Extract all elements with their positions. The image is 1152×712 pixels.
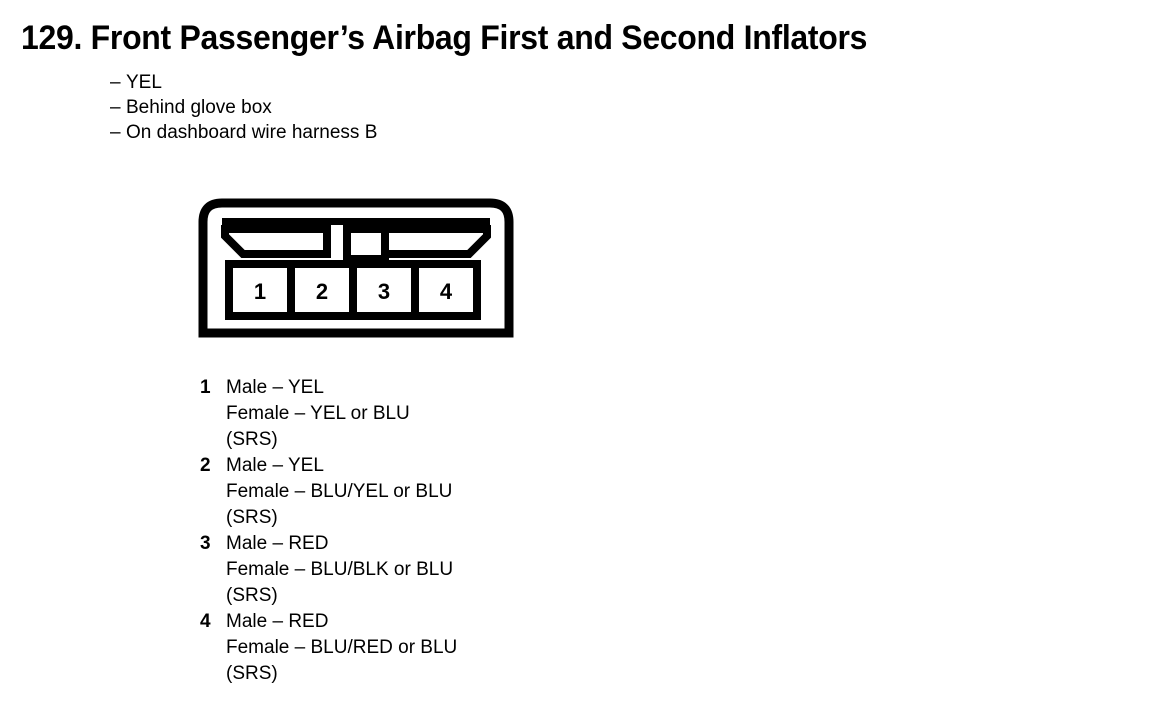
male-label: Male (226, 377, 267, 398)
list-item: – Behind glove box (110, 95, 710, 120)
pin-female-line: Female – BLU/YEL or BLU (226, 479, 660, 505)
left-trapezoid-cutout (225, 229, 327, 254)
separator-dash: – (272, 377, 283, 398)
pin-male-line: Male – YEL (226, 453, 660, 479)
pin-number: 4 (200, 609, 226, 635)
center-square-cutout (347, 229, 385, 259)
pin-entry-1: 1 Male – YEL Female – YEL or BLU (SRS) (200, 375, 660, 453)
pin-entry-4: 4 Male – RED Female – BLU/RED or BLU (SR… (200, 609, 660, 687)
pin-detail-lines: Male – RED Female – BLU/RED or BLU (SRS) (226, 609, 660, 687)
female-label: Female (226, 481, 289, 502)
separator-dash: – (272, 611, 283, 632)
female-label: Female (226, 403, 289, 424)
male-label: Male (226, 455, 267, 476)
pin-number: 1 (200, 375, 226, 401)
male-wire-color: YEL (288, 377, 324, 398)
pin-entry-3: 3 Male – RED Female – BLU/BLK or BLU (SR… (200, 531, 660, 609)
male-label: Male (226, 533, 267, 554)
male-wire-color: YEL (288, 455, 324, 476)
dash-bullet-icon: – (110, 70, 126, 95)
pin-system-label: (SRS) (226, 427, 660, 453)
pin-cavity-label-4: 4 (440, 279, 453, 304)
dash-bullet-icon: – (110, 120, 126, 145)
pin-detail-lines: Male – YEL Female – BLU/YEL or BLU (SRS) (226, 453, 660, 531)
separator-dash: – (272, 533, 283, 554)
pin-male-line: Male – RED (226, 609, 660, 635)
pin-female-line: Female – BLU/BLK or BLU (226, 557, 660, 583)
pin-female-line: Female – BLU/RED or BLU (226, 635, 660, 661)
location-text: Behind glove box (126, 95, 272, 120)
pin-cavity-label-2: 2 (316, 279, 328, 304)
list-item: – YEL (110, 70, 710, 95)
right-trapezoid-cutout (385, 229, 487, 254)
separator-dash: – (295, 481, 306, 502)
separator-dash: – (272, 455, 283, 476)
male-wire-color: RED (288, 533, 328, 554)
harness-text: On dashboard wire harness B (126, 120, 377, 145)
female-wire-color: BLU/BLK or BLU (311, 559, 454, 580)
female-label: Female (226, 559, 289, 580)
top-band-rule (222, 218, 490, 225)
female-wire-color: YEL or BLU (310, 403, 410, 424)
separator-dash: – (295, 637, 306, 658)
list-item: – On dashboard wire harness B (110, 120, 710, 145)
pin-system-label: (SRS) (226, 583, 660, 609)
pin-entry-2: 2 Male – YEL Female – BLU/YEL or BLU (SR… (200, 453, 660, 531)
separator-dash: – (295, 403, 306, 424)
pin-detail-lines: Male – RED Female – BLU/BLK or BLU (SRS) (226, 531, 660, 609)
female-wire-color: BLU/YEL or BLU (311, 481, 453, 502)
pin-female-line: Female – YEL or BLU (226, 401, 660, 427)
dash-bullet-icon: – (110, 95, 126, 120)
female-label: Female (226, 637, 289, 658)
pin-cavity-label-1: 1 (254, 279, 266, 304)
male-label: Male (226, 611, 267, 632)
page-title: 129. Front Passenger’s Airbag First and … (21, 19, 867, 57)
pin-cavity-label-3: 3 (378, 279, 390, 304)
pin-system-label: (SRS) (226, 661, 660, 687)
connector-location-list: – YEL – Behind glove box – On dashboard … (110, 70, 710, 145)
wire-color-text: YEL (126, 70, 162, 95)
pin-male-line: Male – YEL (226, 375, 660, 401)
connector-diagram: 1 2 3 4 (196, 196, 516, 341)
pin-number: 3 (200, 531, 226, 557)
pin-number: 2 (200, 453, 226, 479)
pin-assignment-list: 1 Male – YEL Female – YEL or BLU (SRS) 2… (200, 375, 660, 687)
pin-system-label: (SRS) (226, 505, 660, 531)
female-wire-color: BLU/RED or BLU (311, 637, 458, 658)
male-wire-color: RED (288, 611, 328, 632)
connector-face-svg: 1 2 3 4 (196, 196, 516, 341)
pin-detail-lines: Male – YEL Female – YEL or BLU (SRS) (226, 375, 660, 453)
pin-male-line: Male – RED (226, 531, 660, 557)
separator-dash: – (295, 559, 306, 580)
